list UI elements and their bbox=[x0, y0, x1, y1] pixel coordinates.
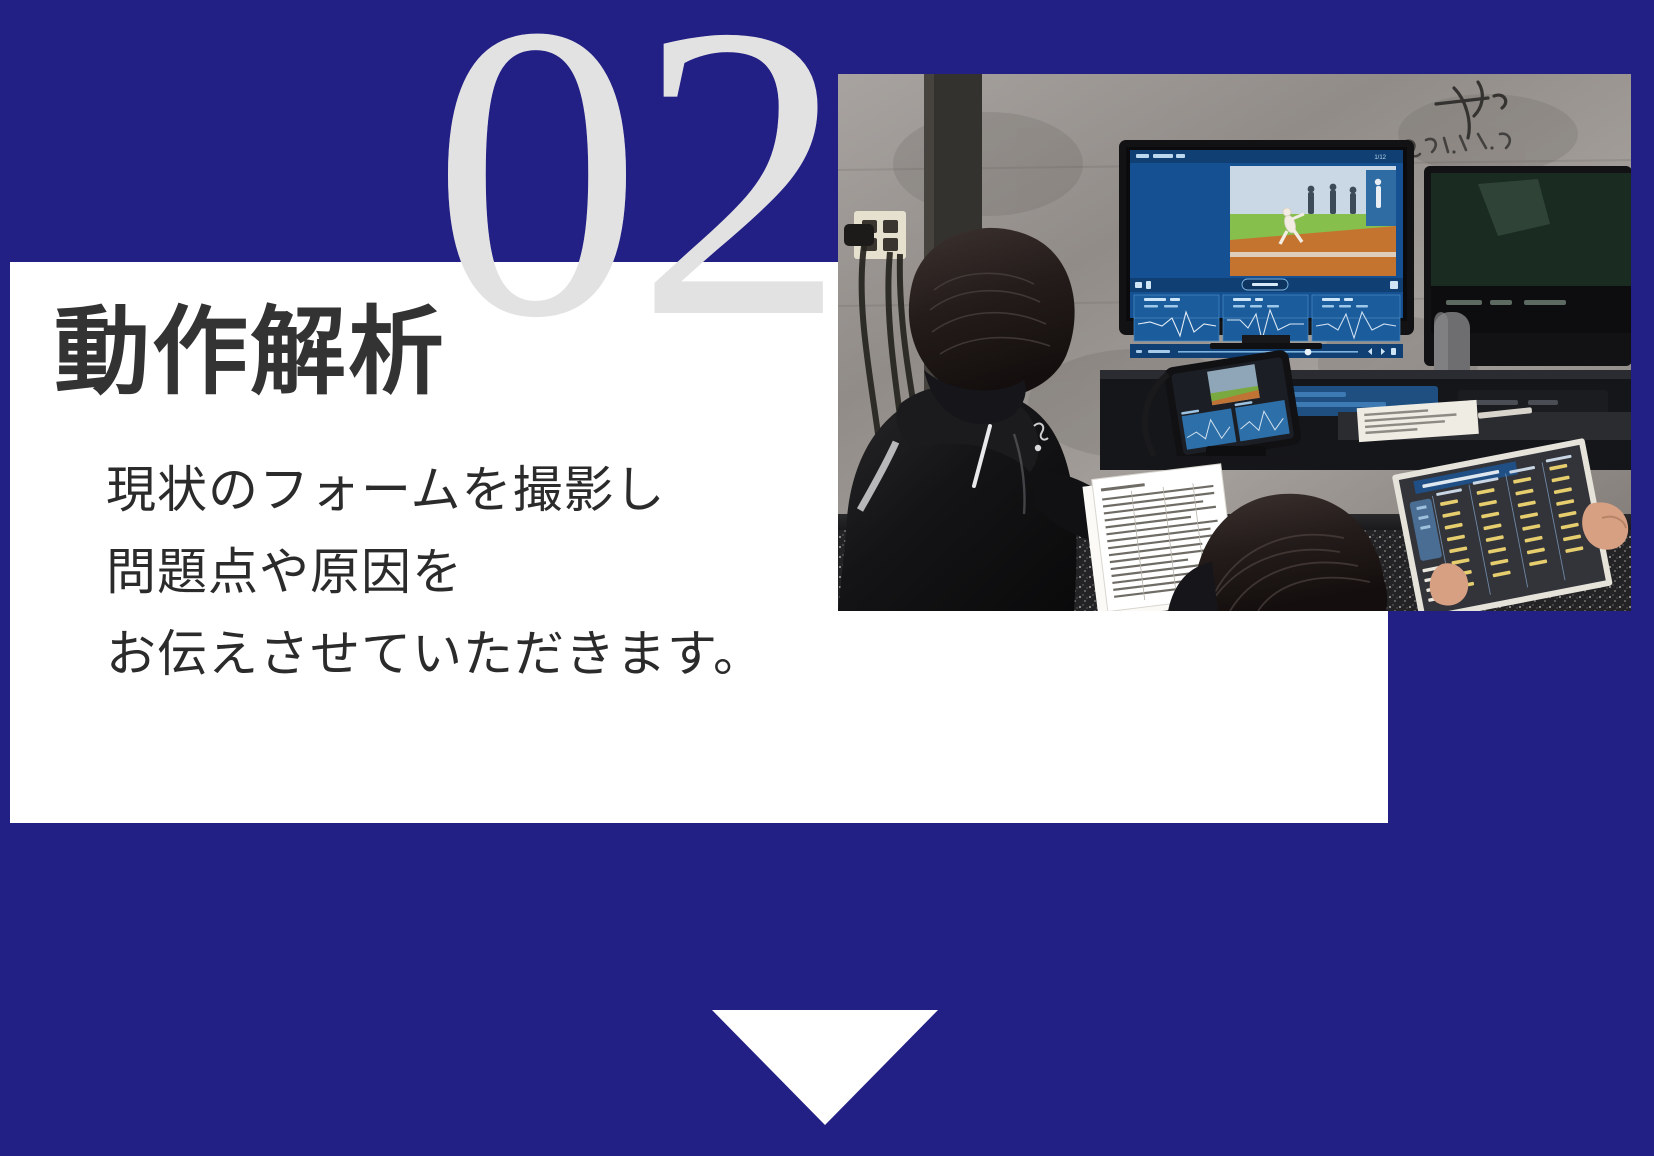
scroll-down-indicator[interactable] bbox=[712, 1010, 938, 1125]
description-line-1: 現状のフォームを撮影し bbox=[106, 449, 764, 531]
description-text: 現状のフォームを撮影し 問題点や原因を お伝えさせていただきます。 bbox=[106, 449, 764, 695]
svg-text:1/12: 1/12 bbox=[1374, 155, 1386, 161]
description-line-3: お伝えさせていただきます。 bbox=[106, 613, 764, 695]
description-line-2: 問題点や原因を bbox=[106, 531, 764, 613]
slide-root: 02 bbox=[0, 0, 1654, 1156]
page-title: 動作解析 bbox=[54, 274, 446, 413]
session-photo: 1/12 bbox=[838, 74, 1631, 611]
